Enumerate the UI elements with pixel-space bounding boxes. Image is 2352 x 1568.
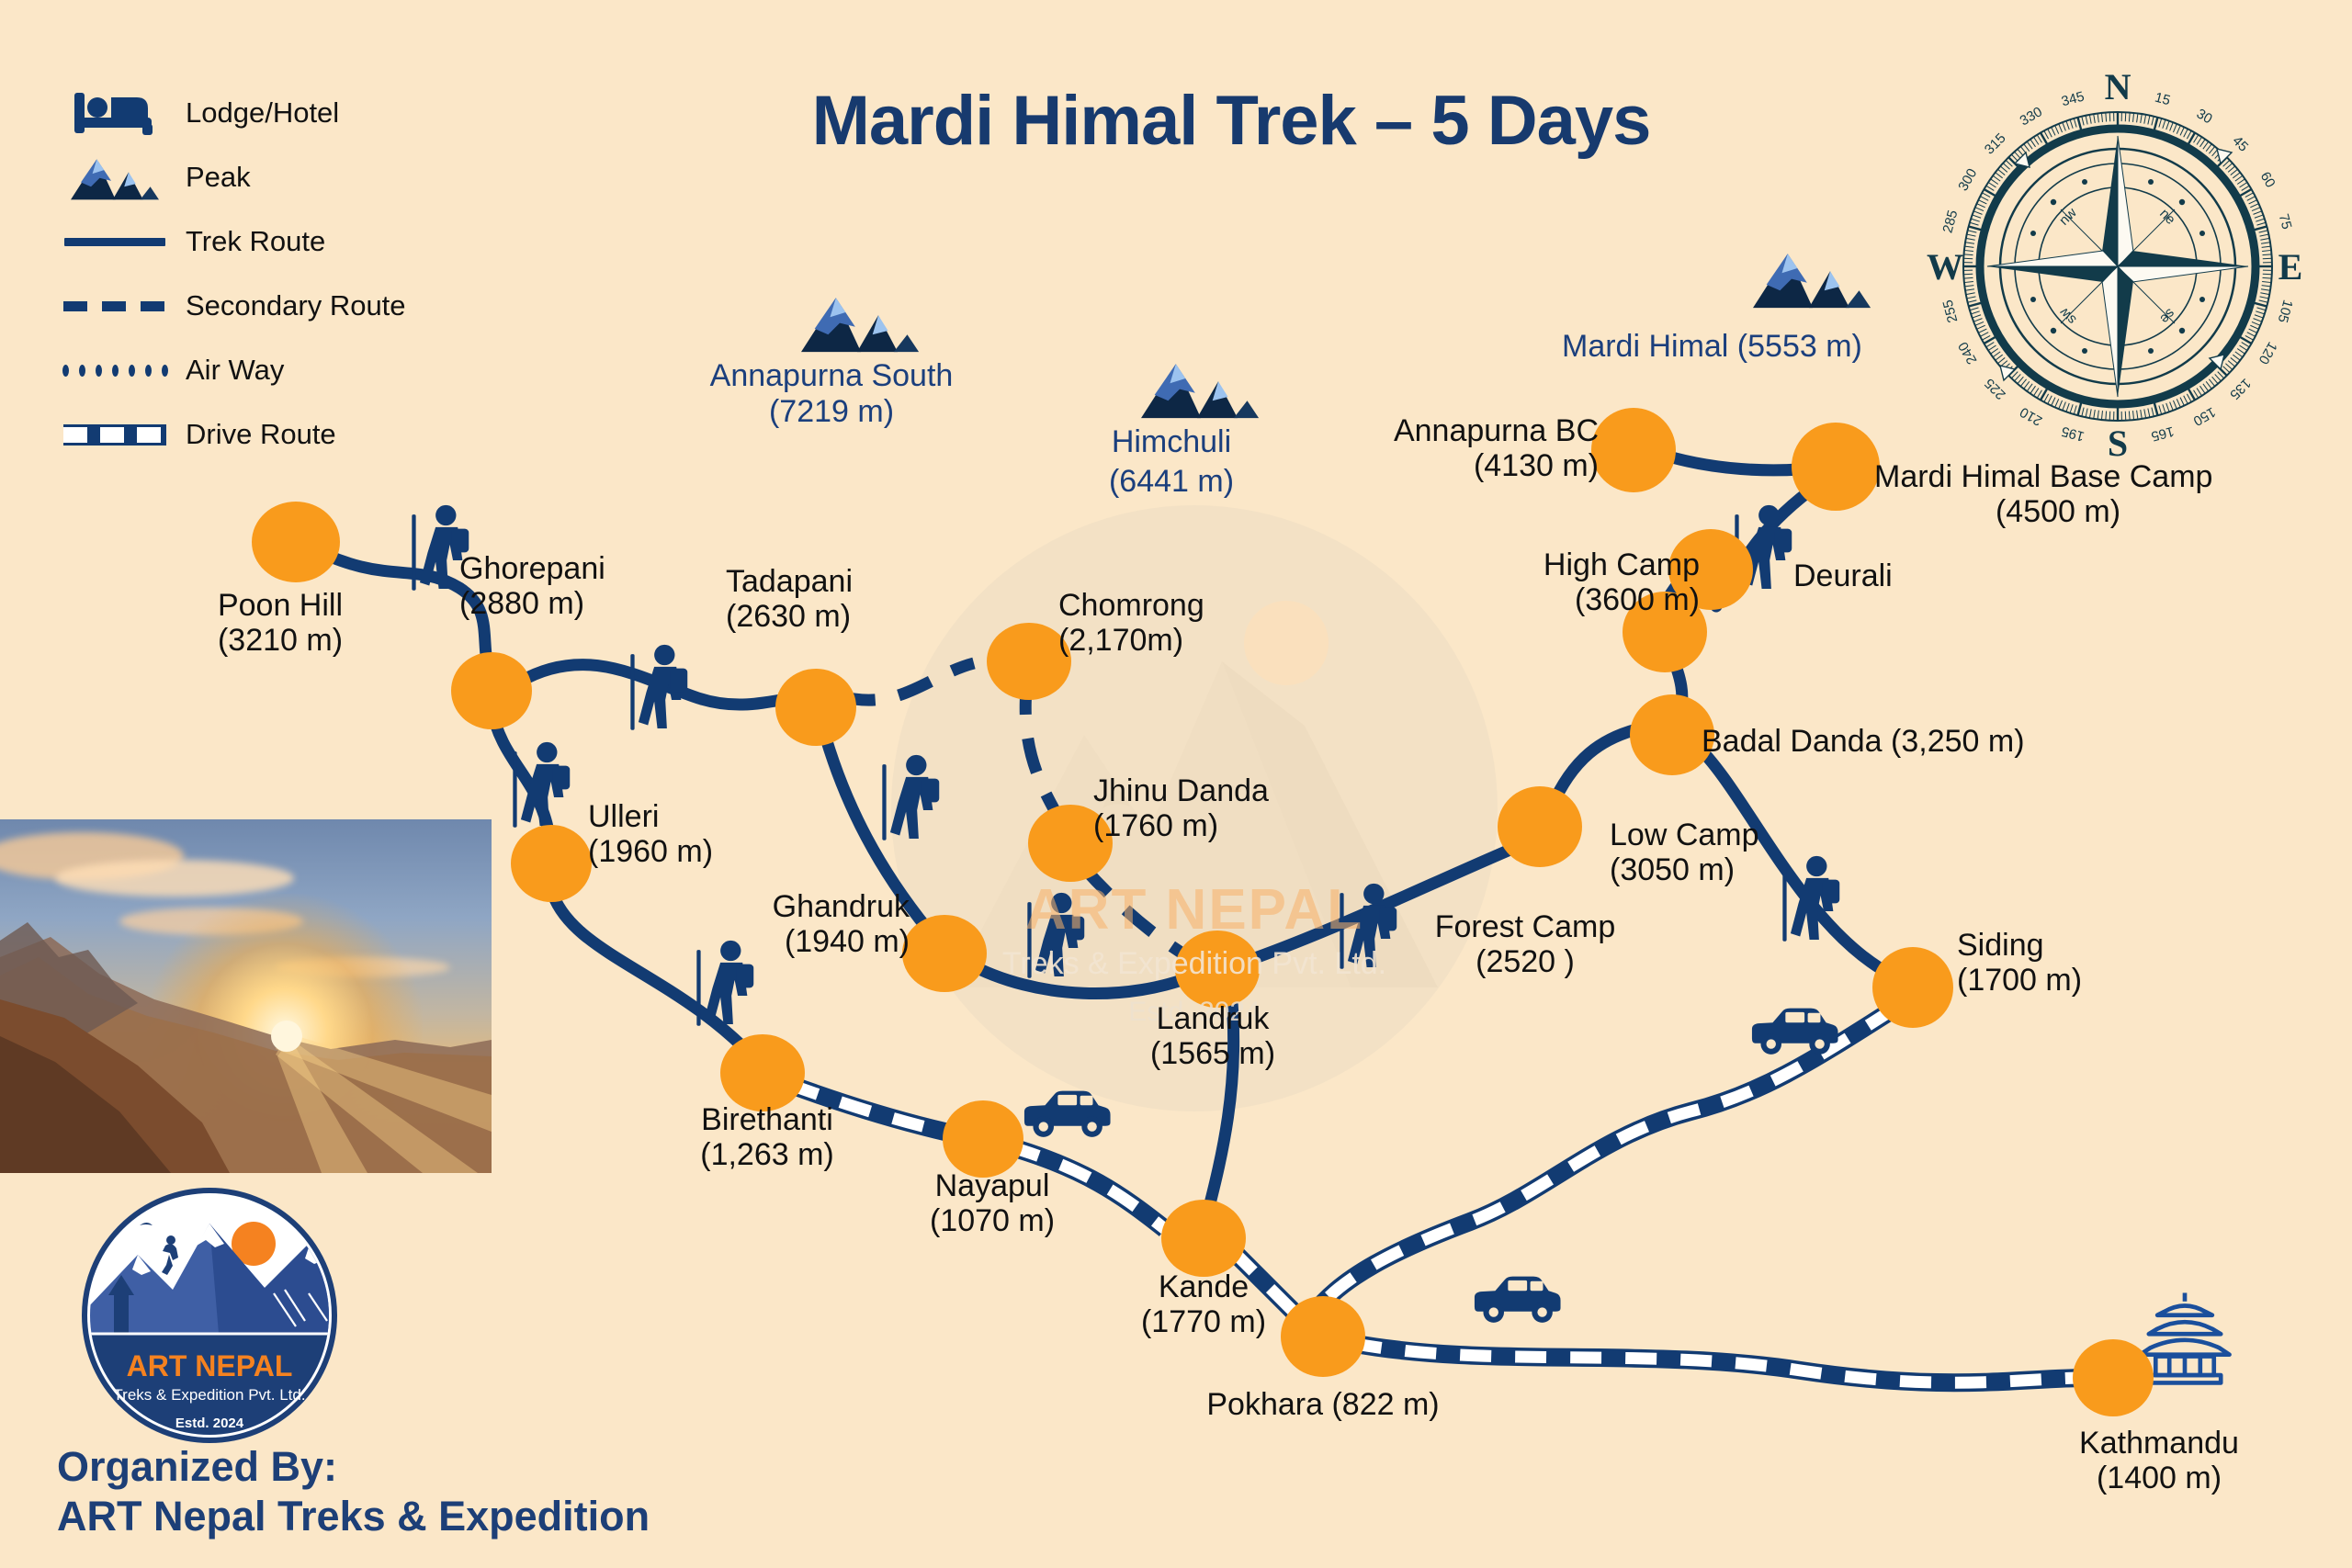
compass-south-label: S — [2108, 423, 2128, 464]
waypoint-label-pokhara: Pokhara (822 m) — [1084, 1387, 1562, 1422]
peak-label-mardi-himal: Mardi Himal (5553 m) — [1562, 329, 1966, 365]
dashed-line-icon — [55, 280, 175, 332]
sunrise-photo-inset — [0, 819, 492, 1173]
legend-label: Trek Route — [186, 225, 325, 258]
kathmandu-pagoda-icon — [2140, 1292, 2229, 1382]
logo-tagline-text: Treks & Expedition Pvt. Ltd. — [113, 1386, 305, 1404]
compass-rose: N E S W ne se sw nw 15304560751051201351… — [1927, 66, 2302, 464]
legend-label: Peak — [186, 161, 251, 194]
legend-item-air-way: Air Way — [55, 338, 487, 402]
page-title: Mardi Himal Trek – 5 Days — [698, 81, 1764, 161]
legend-label: Secondary Route — [186, 289, 406, 322]
waypoint-label-jhinu-danda: Jhinu Danda(1760 m) — [1093, 773, 1406, 843]
logo-brand-text: ART NEPAL — [127, 1349, 293, 1382]
legend-label: Drive Route — [186, 418, 336, 451]
peak-label-himchuli-elevation: (6441 m) — [1034, 464, 1309, 500]
legend-item-peak: Peak — [55, 145, 487, 209]
waypoint-label-ghorepani: Ghorepani(2880 m) — [459, 551, 717, 621]
peak-label-himchuli: Himchuli — [1034, 424, 1309, 460]
compass-west-label: W — [1927, 246, 1963, 288]
dotted-line-icon — [55, 344, 175, 396]
waypoint-label-forest-camp: Forest Camp(2520 ) — [1406, 909, 1645, 979]
waypoint-label-landruk: Landruk(1565 m) — [1066, 1001, 1360, 1071]
peak-icon — [55, 152, 175, 203]
waypoint-label-annapurna-bc: Annapurna BC(4130 m) — [1314, 413, 1599, 483]
footer-line-2: ART Nepal Treks & Expedition — [57, 1492, 884, 1541]
waypoint-label-deurali: Deurali — [1793, 558, 2023, 593]
watermark-tagline: Treks & Expedition Pvt. Ltd. — [928, 946, 1461, 982]
waypoint-label-kande: Kande(1770 m) — [1066, 1269, 1341, 1339]
legend-item-lodge-hotel: Lodge/Hotel — [55, 81, 487, 145]
waypoint-label-high-camp: High Camp(3600 m) — [1433, 547, 1700, 617]
compass-degree-label: 15 — [2154, 90, 2173, 109]
waypoint-label-ulleri: Ulleri(1960 m) — [588, 799, 818, 869]
art-nepal-logo: ART NEPAL Treks & Expedition Pvt. Ltd. E… — [81, 1187, 338, 1444]
watermark-brand: ART NEPAL — [928, 877, 1461, 942]
footer-organized-by: Organized By: ART Nepal Treks & Expediti… — [57, 1442, 884, 1541]
waypoint-label-badal-danda: Badal Danda (3,250 m) — [1702, 724, 2161, 759]
legend-label: Lodge/Hotel — [186, 96, 339, 130]
waypoint-label-birethanti: Birethanti(1,263 m) — [606, 1102, 928, 1172]
compass-degree-label: 345 — [2060, 89, 2086, 110]
compass-degree-label: 165 — [2149, 423, 2176, 445]
drive-line-icon — [55, 409, 175, 460]
waypoint-label-poon-hill: Poon Hill(3210 m) — [129, 588, 432, 658]
legend-item-trek-route: Trek Route — [55, 209, 487, 274]
compass-east-label: E — [2278, 246, 2303, 288]
compass-degree-label: 195 — [2060, 423, 2086, 445]
peak-label-annapurna-south: Annapurna South (7219 m) — [675, 358, 988, 430]
lodge-hotel-icon — [55, 87, 175, 139]
compass-degree-label: 105 — [2275, 298, 2296, 324]
compass-degree-label: 285 — [1940, 209, 1962, 235]
waypoint-label-low-camp: Low Camp(3050 m) — [1610, 818, 1885, 887]
waypoint-label-mardi-himal-base-camp: Mardi Himal Base Camp (4500 m) — [1874, 459, 2352, 529]
compass-degree-label: 255 — [1940, 298, 1962, 324]
legend-label: Air Way — [186, 354, 284, 387]
legend-item-secondary-route: Secondary Route — [55, 274, 487, 338]
waypoint-label-nayapul: Nayapul(1070 m) — [845, 1168, 1139, 1238]
waypoint-label-chomrong: Chomrong(2,170m) — [1058, 588, 1334, 658]
footer-line-1: Organized By: — [57, 1442, 884, 1492]
waypoint-label-tadapani: Tadapani(2630 m) — [726, 564, 965, 634]
logo-estd-text: Estd. 2024 — [175, 1416, 244, 1431]
waypoint-label-siding: Siding(1700 m) — [1957, 928, 2233, 998]
compass-north-label: N — [2105, 66, 2131, 107]
waypoint-label-ghandruk: Ghandruk(1940 m) — [643, 889, 910, 959]
compass-degree-label: 75 — [2276, 212, 2295, 231]
waypoint-label-kathmandu: Kathmandu(1400 m) — [2003, 1426, 2315, 1495]
solid-line-icon — [55, 216, 175, 267]
legend: Lodge/Hotel Peak Trek Route Secondary Ro… — [55, 81, 487, 467]
legend-item-drive-route: Drive Route — [55, 402, 487, 467]
